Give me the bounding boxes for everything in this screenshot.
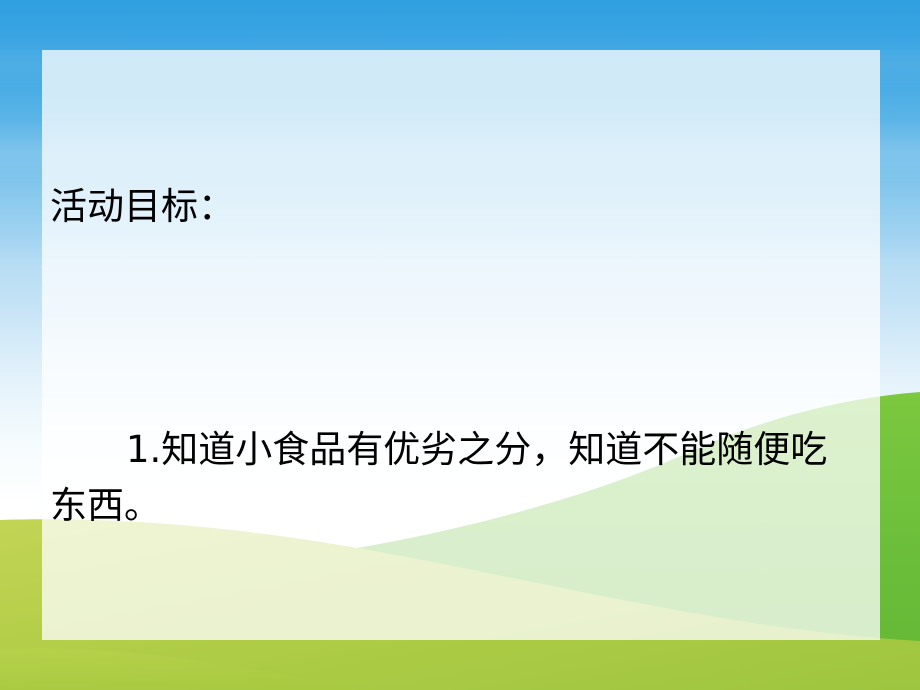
slide-body-text: 活动目标： 1.知道小食品有优劣之分，知道不能随便吃东西。 2.知道一些辨别优劣…	[48, 74, 862, 690]
slide-canvas: 活动目标： 1.知道小食品有优劣之分，知道不能随便吃东西。 2.知道一些辨别优劣…	[0, 0, 920, 690]
content-panel-inner: 活动目标： 1.知道小食品有优劣之分，知道不能随便吃东西。 2.知道一些辨别优劣…	[42, 50, 880, 640]
page-title: 活动目标：	[48, 186, 862, 229]
content-panel: 活动目标： 1.知道小食品有优劣之分，知道不能随便吃东西。 2.知道一些辨别优劣…	[42, 50, 880, 640]
objective-item-1: 1.知道小食品有优劣之分，知道不能随便吃东西。	[48, 422, 862, 534]
